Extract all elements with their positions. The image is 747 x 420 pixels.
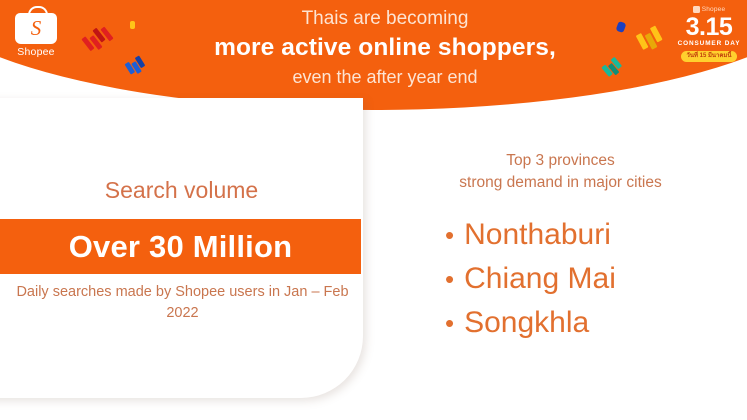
shopping-bag-icon: S [15, 6, 57, 44]
list-item: • Nonthaburi [445, 213, 695, 257]
badge-date-pill: วันที่ 15 มีนาคมนี้ [681, 51, 737, 62]
search-volume-label: Search volume [0, 177, 363, 204]
top-provinces-heading: Top 3 provinces strong demand in major c… [383, 150, 738, 194]
search-volume-card: Search volume Over 30 Million Daily sear… [0, 98, 363, 398]
province-name: Chiang Mai [464, 257, 616, 301]
province-name: Songkhla [464, 301, 589, 345]
search-volume-metric-value: Over 30 Million [0, 219, 361, 274]
headline-line-1: Thais are becoming [170, 6, 600, 32]
search-volume-note: Daily searches made by Shopee users in J… [10, 282, 355, 324]
yellow-pellet-confetti-icon [130, 21, 135, 29]
logo-wordmark: Shopee [8, 46, 64, 58]
bullet-icon: • [445, 301, 454, 345]
consumer-day-badge: Shopee 3.15 CONSUMER DAY วันที่ 15 มีนาค… [676, 4, 742, 60]
top-provinces-panel: Top 3 provinces strong demand in major c… [383, 150, 738, 345]
headline-line-2: more active online shoppers, [170, 32, 600, 64]
infographic-canvas: S Shopee Thais are becoming more active … [0, 0, 747, 420]
badge-brand-text: Shopee [702, 6, 726, 13]
top-provinces-heading-line-2: strong demand in major cities [383, 172, 738, 194]
province-name: Nonthaburi [464, 213, 611, 257]
bullet-icon: • [445, 213, 454, 257]
search-volume-metric-band: Over 30 Million [0, 219, 361, 274]
badge-number: 3.15 [676, 15, 742, 39]
headline-line-3: even the after year end [170, 64, 600, 91]
provinces-list: • Nonthaburi • Chiang Mai • Songkhla [445, 213, 695, 345]
top-provinces-heading-line-1: Top 3 provinces [383, 150, 738, 172]
logo-letter: S [15, 13, 57, 44]
headline-block: Thais are becoming more active online sh… [170, 6, 600, 91]
shopee-logo: S Shopee [8, 6, 64, 64]
badge-shopee-mark-icon [693, 6, 700, 13]
list-item: • Songkhla [445, 301, 695, 345]
bullet-icon: • [445, 257, 454, 301]
list-item: • Chiang Mai [445, 257, 695, 301]
search-volume-card-content: Search volume Over 30 Million Daily sear… [0, 98, 363, 398]
badge-subtitle: CONSUMER DAY [676, 39, 742, 49]
